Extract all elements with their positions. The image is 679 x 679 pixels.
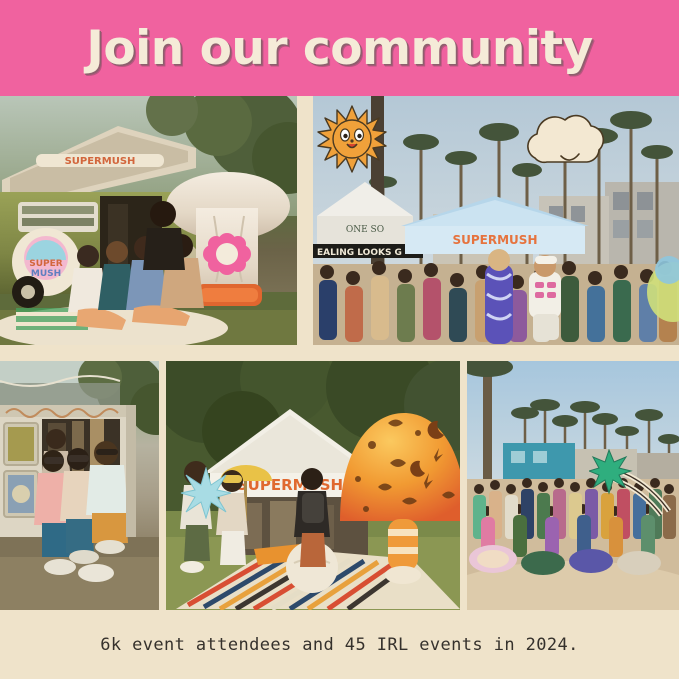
photo-van-friends-scene: SUPERMUSH SUPER MUSH xyxy=(0,96,297,345)
photo-beach-group[interactable] xyxy=(467,361,679,610)
van-brand-text: SUPERMUSH xyxy=(65,156,136,167)
beach-festival-illustration: ONE SO EALING LOOKS G SUPERMUSH xyxy=(313,96,679,345)
svg-text:MUSH: MUSH xyxy=(31,269,61,279)
flower-sticker xyxy=(203,233,251,275)
photo-van-friends[interactable]: SUPERMUSH SUPER MUSH xyxy=(0,96,297,345)
vintage-van-illustration xyxy=(0,361,159,610)
header-banner: Join our community xyxy=(0,0,679,96)
svg-text:SUPER: SUPER xyxy=(29,259,63,269)
photo-beach-festival[interactable]: ONE SO EALING LOOKS G SUPERMUSH xyxy=(313,96,679,345)
page-title: Join our community xyxy=(86,25,592,72)
tent-text: ONE SO xyxy=(346,225,384,235)
photo-grid: SUPERMUSH SUPER MUSH xyxy=(0,96,679,610)
tent-brand-text: SUPERMUSH xyxy=(453,233,538,247)
beach-group-illustration xyxy=(467,361,679,610)
photo-beach-festival-scene: ONE SO EALING LOOKS G SUPERMUSH xyxy=(313,96,679,345)
footer-bar: 6k event attendees and 45 IRL events in … xyxy=(0,610,679,679)
van-friends-illustration: SUPERMUSH SUPER MUSH xyxy=(0,96,297,345)
banner-text: EALING LOOKS G xyxy=(317,248,402,258)
festival-booth-illustration: SUPERMUSH xyxy=(166,361,460,610)
community-gallery-card: Join our community xyxy=(0,0,679,679)
photo-vintage-van[interactable] xyxy=(0,361,159,610)
photo-festival-booth[interactable]: SUPERMUSH xyxy=(166,361,460,610)
photo-beach-group-scene xyxy=(467,361,679,610)
photo-festival-booth-scene: SUPERMUSH xyxy=(166,361,460,610)
stats-caption: 6k event attendees and 45 IRL events in … xyxy=(100,635,579,655)
photo-vintage-van-scene xyxy=(0,361,159,610)
